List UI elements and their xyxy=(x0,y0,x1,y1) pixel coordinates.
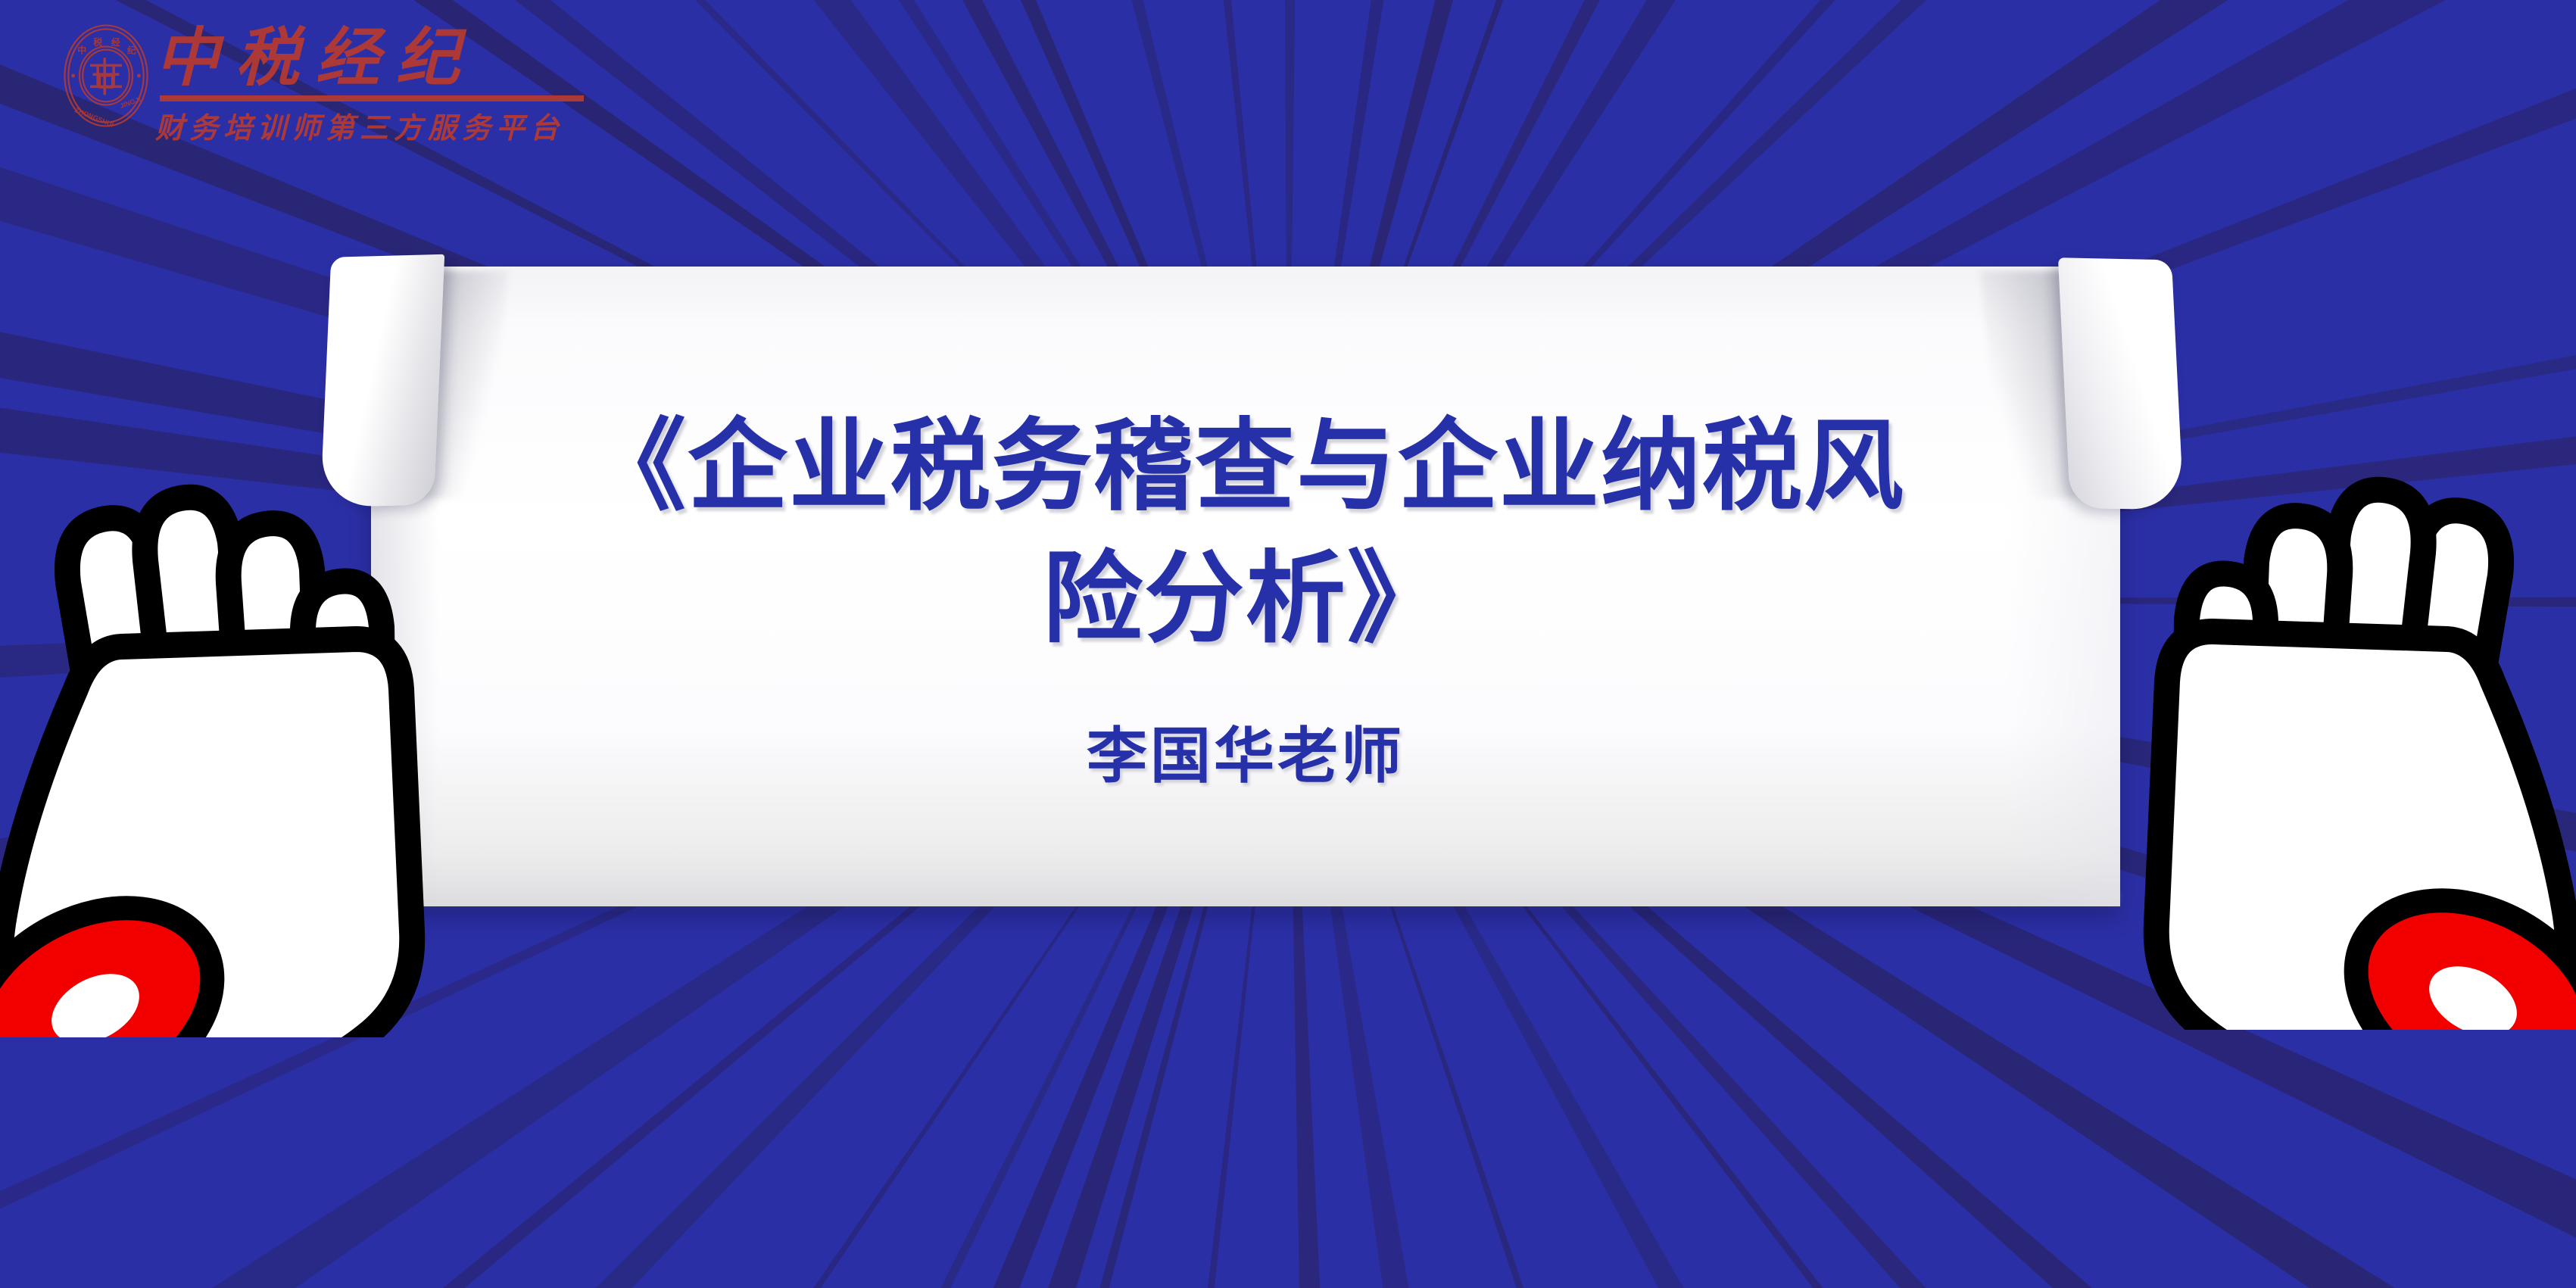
presentation-slide: 中 税 经 纪 ZHONGSHUI JINGJI 中税经纪 财务培训师第三方服务… xyxy=(0,0,2576,1288)
svg-text:税: 税 xyxy=(93,37,102,48)
right-hand-illustration xyxy=(2001,326,2576,1030)
brand-logo-lockup: 中 税 经 纪 ZHONGSHUI JINGJI 中税经纪 财务培训师第三方服务… xyxy=(30,17,757,244)
page-title: 《企业税务稽查与企业纳税风险分析》 xyxy=(579,401,1912,664)
brand-text-group: 中税经纪 财务培训师第三方服务平台 xyxy=(155,27,625,146)
left-hand-illustration xyxy=(0,333,568,1037)
svg-text:经: 经 xyxy=(111,37,120,48)
title-scroll-banner: 《企业税务稽查与企业纳税风险分析》 李国华老师 xyxy=(326,267,2166,906)
brand-name: 中税经纪 xyxy=(155,27,625,91)
brand-divider xyxy=(160,95,584,101)
svg-text:ZHONGSHUI: ZHONGSHUI xyxy=(73,106,114,129)
banner-text-container: 《企业税务稽查与企业纳税风险分析》 李国华老师 xyxy=(416,267,2075,906)
svg-text:纪: 纪 xyxy=(127,45,136,56)
company-seal-icon: 中 税 经 纪 ZHONGSHUI JINGJI xyxy=(53,23,159,129)
presenter-name: 李国华老师 xyxy=(1087,707,1405,795)
svg-text:中: 中 xyxy=(77,45,86,56)
brand-tagline: 财务培训师第三方服务平台 xyxy=(155,104,625,146)
